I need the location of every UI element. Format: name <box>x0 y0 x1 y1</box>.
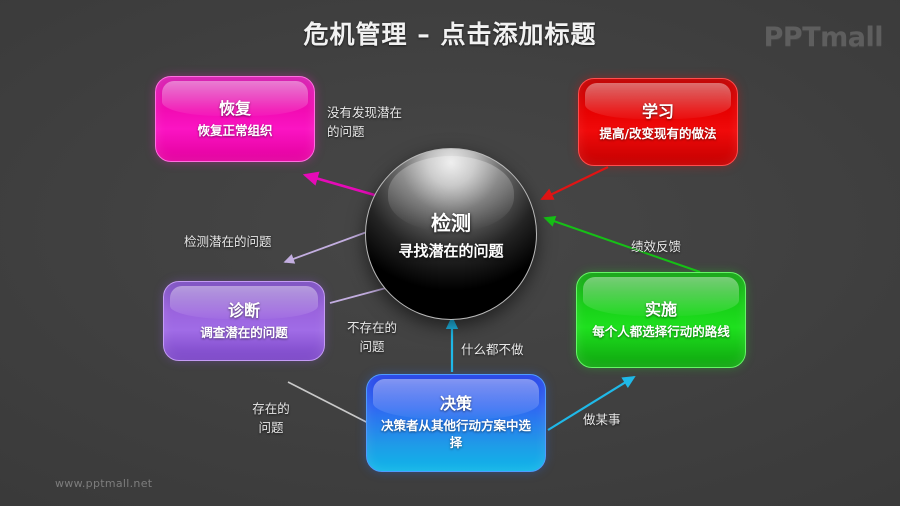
edge-label-detect-potential-problem: 检测潜在的问题 <box>184 233 314 252</box>
node-recover-title: 恢复 <box>197 99 272 119</box>
detect-node-subtitle: 寻找潜在的问题 <box>398 240 503 261</box>
node-learn-title: 学习 <box>599 102 716 122</box>
node-implement[interactable]: 实施 每个人都选择行动的路线 <box>576 272 746 368</box>
detect-node-title: 检测 <box>431 207 471 236</box>
node-implement-subtitle: 每个人都选择行动的路线 <box>592 324 730 341</box>
slide-canvas: 危机管理 – 点击添加标题 PPTmall <box>0 0 900 506</box>
node-diagnose-subtitle: 调查潜在的问题 <box>200 325 288 342</box>
edge-label-no-existing-problem: 不存在的 问题 <box>341 319 403 357</box>
detect-node[interactable]: 检测 寻找潜在的问题 <box>365 148 537 320</box>
node-diagnose[interactable]: 诊断 调查潜在的问题 <box>163 281 325 361</box>
edge-label-performance-feedback: 绩效反馈 <box>631 238 711 257</box>
edge-no-problem-found <box>305 175 378 196</box>
node-decide-title: 决策 <box>380 394 532 414</box>
node-recover-subtitle: 恢复正常组织 <box>197 123 272 140</box>
edge-learn-feedback <box>542 167 608 199</box>
edge-label-do-something: 做某事 <box>583 411 663 430</box>
edge-label-no-problem-found: 没有发现潜在 的问题 <box>327 104 427 142</box>
node-learn[interactable]: 学习 提高/改变现有的做法 <box>578 78 738 166</box>
node-diagnose-title: 诊断 <box>200 301 288 321</box>
node-decide-subtitle: 决策者从其他行动方案中选择 <box>380 418 532 452</box>
edge-label-existing-problem: 存在的 问题 <box>240 400 302 438</box>
node-implement-title: 实施 <box>592 300 730 320</box>
node-decide[interactable]: 决策 决策者从其他行动方案中选择 <box>366 374 546 472</box>
site-watermark: www.pptmall.net <box>55 477 152 490</box>
node-recover[interactable]: 恢复 恢复正常组织 <box>155 76 315 162</box>
edge-label-do-nothing: 什么都不做 <box>461 341 551 360</box>
node-learn-subtitle: 提高/改变现有的做法 <box>599 126 716 143</box>
